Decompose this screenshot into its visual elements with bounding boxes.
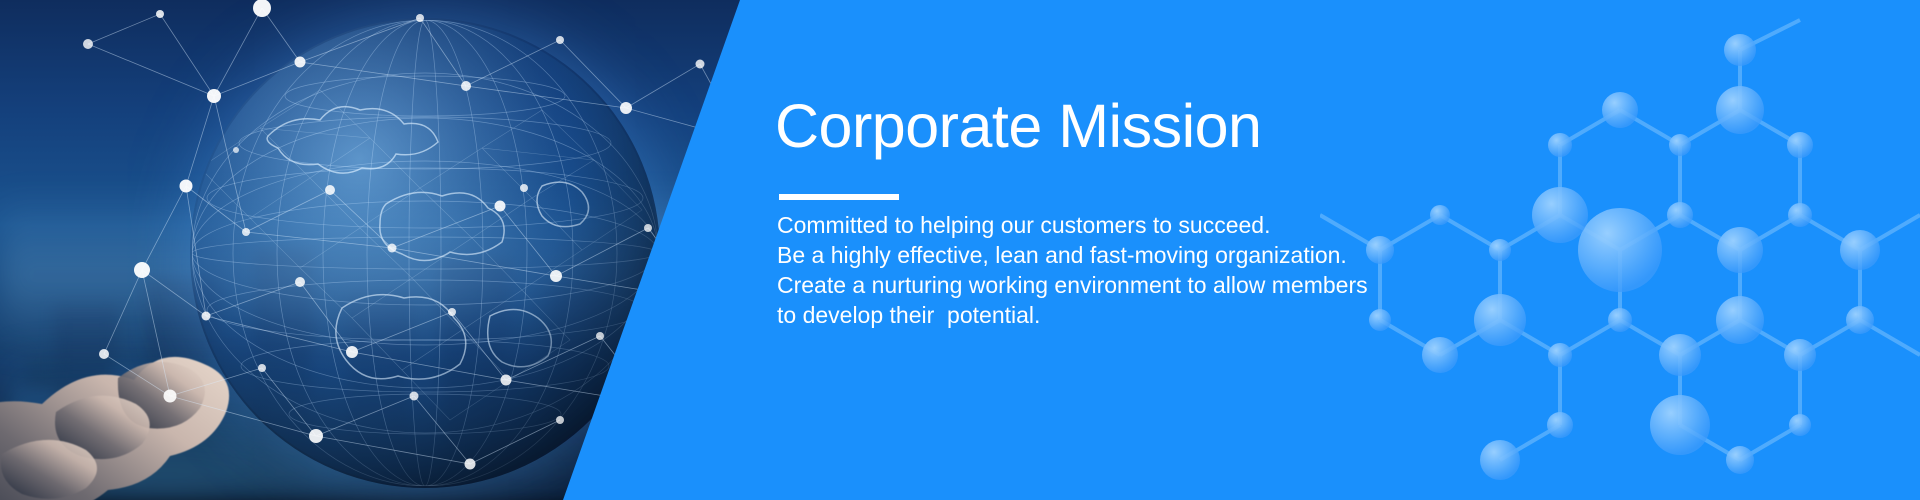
mission-line: Committed to helping our customers to su…	[777, 210, 1417, 240]
mission-line: to develop their potential.	[777, 300, 1417, 330]
banner-content: Corporate Mission Committed to helping o…	[775, 0, 1475, 500]
page-title: Corporate Mission	[775, 94, 1261, 160]
title-divider	[779, 194, 899, 200]
mission-line: Create a nurturing working environment t…	[777, 270, 1417, 300]
corporate-mission-banner: Corporate Mission Committed to helping o…	[0, 0, 1920, 500]
mission-line: Be a highly effective, lean and fast-mov…	[777, 240, 1417, 270]
mission-statement: Committed to helping our customers to su…	[777, 210, 1417, 330]
